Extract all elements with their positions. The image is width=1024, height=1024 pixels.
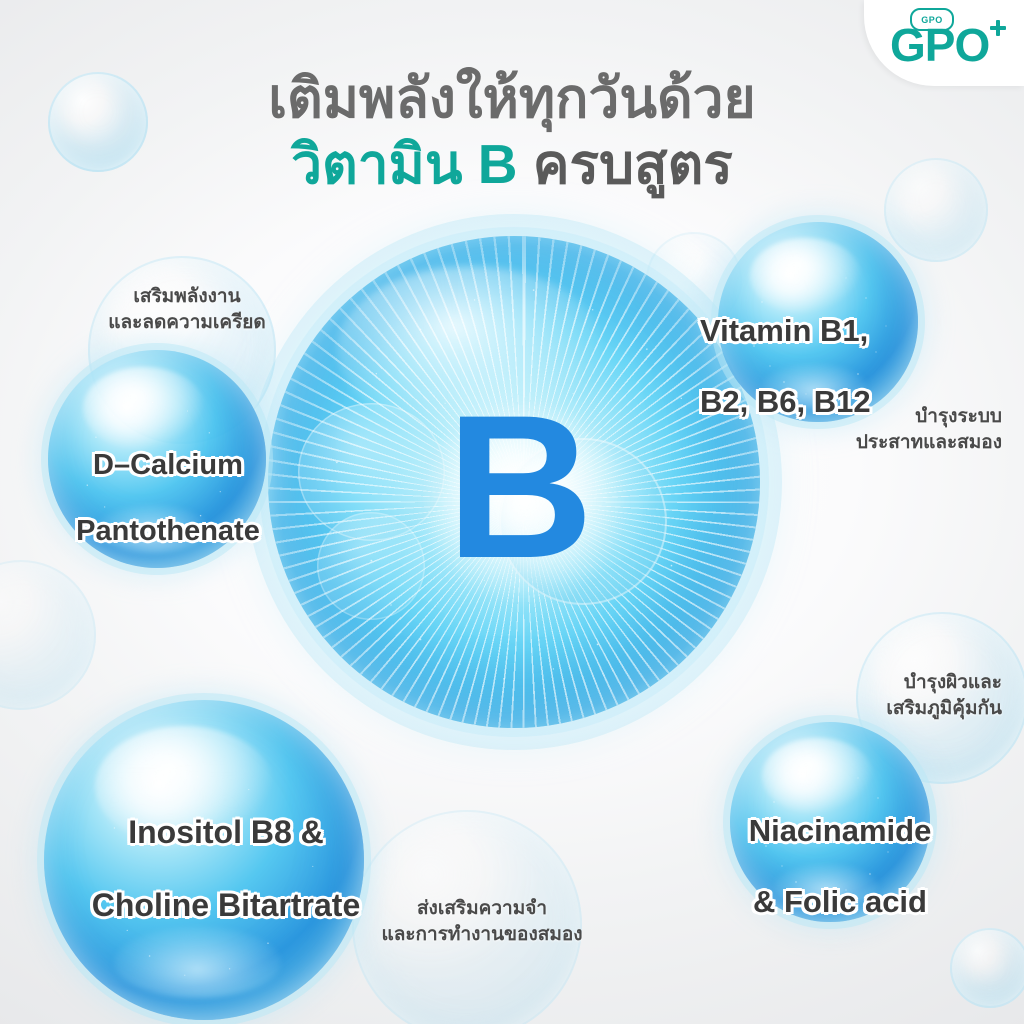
- label-line-1: Inositol B8 &: [26, 814, 426, 850]
- note-line-2: และการทำงานของสมอง: [312, 922, 652, 948]
- note-line-2: และลดความเครียด: [72, 310, 302, 336]
- headline-line-1: เติมพลังให้ทุกวันด้วย: [0, 68, 1024, 130]
- note-line-2: เสริมภูมิคุ้มกัน: [744, 696, 1002, 722]
- headline-full-formula: ครบสูตร: [517, 133, 732, 195]
- label-line-1: Niacinamide: [700, 813, 980, 848]
- decorative-bubble-left-edge: [0, 560, 96, 710]
- note-line-1: บำรุงผิวและ: [744, 670, 1002, 696]
- note-d-calcium-pantothenate: เสริมพลังงาน และลดความเครียด: [72, 284, 302, 335]
- central-vitamin-b-sphere: B: [268, 236, 760, 728]
- gpo-logo: GPO GPO: [890, 6, 1008, 78]
- label-niacinamide-folic-acid: Niacinamide & Folic acid: [700, 778, 980, 955]
- note-vitamin-b-complex: บำรุงระบบ ประสาทและสมอง: [744, 404, 1002, 455]
- vitamin-b-poster: B เติมพลังให้ทุกวันด้วย วิตามิน B ครบสูต…: [0, 0, 1024, 1024]
- note-line-1: บำรุงระบบ: [744, 404, 1002, 430]
- label-line-1: D–Calcium: [48, 449, 288, 482]
- headline-line-2: วิตามิน B ครบสูตร: [0, 134, 1024, 196]
- label-line-1: Vitamin B1,: [700, 313, 960, 348]
- note-line-1: ส่งเสริมความจำ: [312, 896, 652, 922]
- center-letter-b: B: [268, 236, 760, 728]
- note-inositol-choline: ส่งเสริมความจำ และการทำงานของสมอง: [312, 896, 652, 947]
- note-line-2: ประสาทและสมอง: [744, 430, 1002, 456]
- note-niacinamide-folic-acid: บำรุงผิวและ เสริมภูมิคุ้มกัน: [744, 670, 1002, 721]
- label-line-2: & Folic acid: [700, 884, 980, 919]
- label-line-2: Pantothenate: [48, 515, 288, 548]
- headline-vitamin-b: วิตามิน B: [291, 133, 517, 195]
- label-d-calcium-pantothenate: D–Calcium Pantothenate: [48, 416, 288, 581]
- sphere-body: B: [268, 236, 760, 728]
- headline: เติมพลังให้ทุกวันด้วย วิตามิน B ครบสูตร: [0, 68, 1024, 195]
- gpo-logo-wordmark: GPO: [890, 22, 989, 68]
- note-line-1: เสริมพลังงาน: [72, 284, 302, 310]
- plus-icon: [990, 20, 1006, 36]
